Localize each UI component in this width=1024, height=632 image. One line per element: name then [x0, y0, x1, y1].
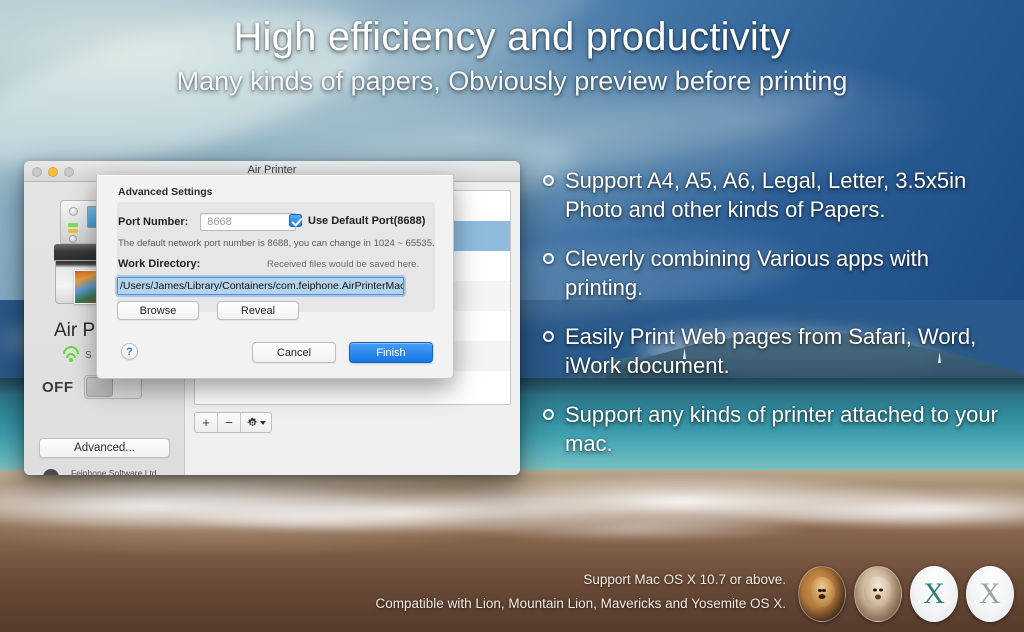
yosemite-badge: X: [966, 566, 1014, 622]
port-number-input[interactable]: 8668: [200, 213, 296, 231]
bullet-circle-icon: [543, 409, 554, 420]
advanced-settings-sheet[interactable]: Advanced Settings Port Number: 8668 Use …: [96, 175, 454, 379]
hero-banner: High efficiency and productivity Many ki…: [0, 14, 1024, 98]
lion-badge: [798, 566, 846, 622]
list-toolbar: + −: [194, 412, 272, 433]
finish-button[interactable]: Finish: [349, 342, 433, 363]
browse-button[interactable]: Browse: [117, 301, 199, 320]
port-number-label: Port Number:: [118, 216, 188, 228]
feiphone-logo-icon: [38, 469, 64, 475]
use-default-port-checkbox[interactable]: [289, 214, 302, 227]
reveal-button[interactable]: Reveal: [217, 301, 299, 320]
mavericks-x-icon: X: [911, 567, 957, 621]
printer-led-green: [68, 223, 78, 227]
feature-item: Support any kinds of printer attached to…: [543, 400, 1013, 458]
bullet-circle-icon: [543, 175, 554, 186]
feature-item: Cleverly combining Various apps with pri…: [543, 244, 1013, 302]
chevron-down-icon: [260, 421, 266, 425]
mountain-lion-badge: [854, 566, 902, 622]
bullet-circle-icon: [543, 331, 554, 342]
cougar-face-icon: [864, 576, 892, 607]
work-directory-label: Work Directory:: [118, 258, 200, 270]
use-default-port-row[interactable]: Use Default Port(8688): [289, 214, 425, 227]
port-hint-text: The default network port number is 8688,…: [118, 238, 435, 249]
remove-button[interactable]: −: [218, 413, 241, 432]
power-state-label: OFF: [42, 379, 74, 396]
sheet-title: Advanced Settings: [118, 186, 213, 198]
page-footer: Support Mac OS X 10.7 or above. Compatib…: [0, 568, 1024, 624]
advanced-button[interactable]: Advanced...: [39, 438, 170, 458]
brand-company-name: Feiphone Software Ltd: [71, 468, 164, 475]
wave-foam-secondary: [0, 494, 1024, 554]
help-button[interactable]: ?: [121, 343, 138, 360]
feature-list: Support A4, A5, A6, Legal, Letter, 3.5x5…: [543, 166, 1013, 478]
footer-line-2: Compatible with Lion, Mountain Lion, Mav…: [376, 592, 786, 616]
add-button[interactable]: +: [195, 413, 218, 432]
directory-buttons: Browse Reveal: [117, 301, 299, 320]
work-directory-value: /Users/James/Library/Containers/com.feip…: [118, 278, 404, 294]
os-badge-group: X X: [798, 566, 1014, 622]
use-default-port-label: Use Default Port(8688): [308, 215, 425, 227]
gear-icon: [247, 417, 258, 428]
toggle-knob: [86, 377, 113, 397]
printer-led-amber: [68, 229, 78, 233]
feature-text: Support A4, A5, A6, Legal, Letter, 3.5x5…: [565, 166, 1013, 224]
port-number-row: Port Number: 8668: [118, 213, 296, 231]
work-directory-hint: Received files would be saved here.: [267, 259, 419, 270]
wifi-status-label: S: [85, 350, 92, 361]
bullet-circle-icon: [543, 253, 554, 264]
printer-name-label: Air P: [54, 320, 95, 342]
hero-title: High efficiency and productivity: [0, 14, 1024, 61]
feature-item: Easily Print Web pages from Safari, Word…: [543, 322, 1013, 380]
mavericks-badge: X: [910, 566, 958, 622]
footer-line-1: Support Mac OS X 10.7 or above.: [376, 568, 786, 592]
printer-knob-icon: [69, 235, 77, 243]
feature-item: Support A4, A5, A6, Legal, Letter, 3.5x5…: [543, 166, 1013, 224]
feature-text: Cleverly combining Various apps with pri…: [565, 244, 1013, 302]
lion-face-icon: [809, 577, 835, 607]
hero-subtitle: Many kinds of papers, Obviously preview …: [0, 65, 1024, 97]
brand-text-block: Feiphone Software Ltd http://www.feiphon…: [71, 468, 164, 475]
work-directory-row: Work Directory:: [118, 258, 200, 270]
printer-knob-icon: [69, 207, 78, 216]
sheet-action-buttons: Cancel Finish: [252, 342, 433, 363]
settings-menu-button[interactable]: [241, 413, 271, 432]
compatibility-text: Support Mac OS X 10.7 or above. Compatib…: [376, 568, 786, 616]
work-directory-input[interactable]: /Users/James/Library/Containers/com.feip…: [117, 277, 404, 295]
wifi-icon: [62, 348, 80, 362]
port-hint-row: The default network port number is 8688,…: [118, 238, 435, 249]
wifi-status-row: S: [62, 348, 92, 362]
feature-text: Easily Print Web pages from Safari, Word…: [565, 322, 1013, 380]
yosemite-x-icon: X: [967, 567, 1013, 621]
settings-group-box: Port Number: 8668 Use Default Port(8688)…: [117, 202, 435, 312]
brand-footer: Feiphone Software Ltd http://www.feiphon…: [38, 468, 164, 475]
cancel-button[interactable]: Cancel: [252, 342, 336, 363]
feature-text: Support any kinds of printer attached to…: [565, 400, 1013, 458]
